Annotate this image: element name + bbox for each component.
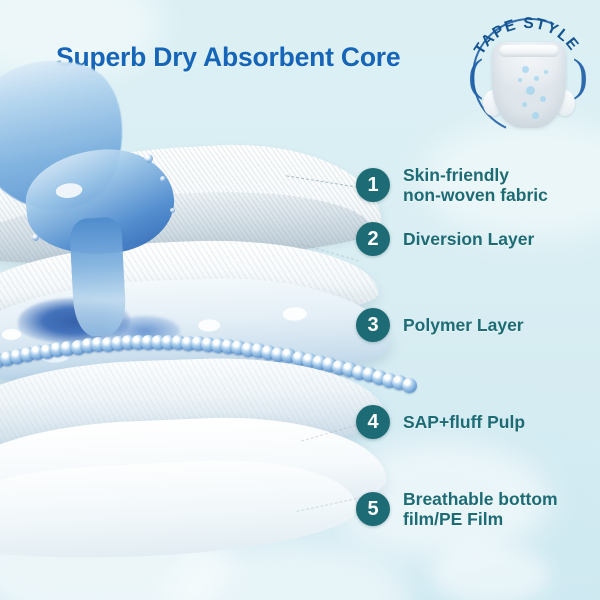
- callout-3[interactable]: 3 Polymer Layer: [356, 308, 524, 342]
- callout-label-2: Diversion Layer: [403, 229, 534, 249]
- cloud-decoration: [430, 545, 550, 600]
- polymer-bead: [402, 378, 417, 393]
- bracket-left: (: [468, 52, 483, 98]
- callout-label-1: Skin-friendly non-woven fabric: [403, 165, 548, 206]
- callout-number-1: 1: [356, 168, 390, 202]
- callout-5[interactable]: 5 Breathable bottom film/PE Film: [356, 489, 558, 530]
- bracket-right: ): [573, 52, 588, 98]
- tape-style-badge: TAPE STYLE ( ): [466, 8, 590, 142]
- diaper-body: [492, 42, 566, 128]
- callout-number-3: 3: [356, 308, 390, 342]
- callout-label-5: Breathable bottom film/PE Film: [403, 489, 558, 530]
- diaper-photo: [492, 42, 566, 128]
- water-pour-stream: [0, 58, 204, 358]
- callout-number-2: 2: [356, 222, 390, 256]
- callout-label-4: SAP+fluff Pulp: [403, 412, 525, 432]
- infographic-canvas: Superb Dry Absorbent Core TAPE STYLE ( ): [0, 0, 600, 600]
- callout-number-4: 4: [356, 405, 390, 439]
- callout-label-3: Polymer Layer: [403, 315, 524, 335]
- callout-1[interactable]: 1 Skin-friendly non-woven fabric: [356, 165, 548, 206]
- diaper-waistband: [499, 45, 559, 57]
- callout-2[interactable]: 2 Diversion Layer: [356, 222, 534, 256]
- water-column: [69, 217, 127, 338]
- callout-number-5: 5: [356, 492, 390, 526]
- callout-4[interactable]: 4 SAP+fluff Pulp: [356, 405, 525, 439]
